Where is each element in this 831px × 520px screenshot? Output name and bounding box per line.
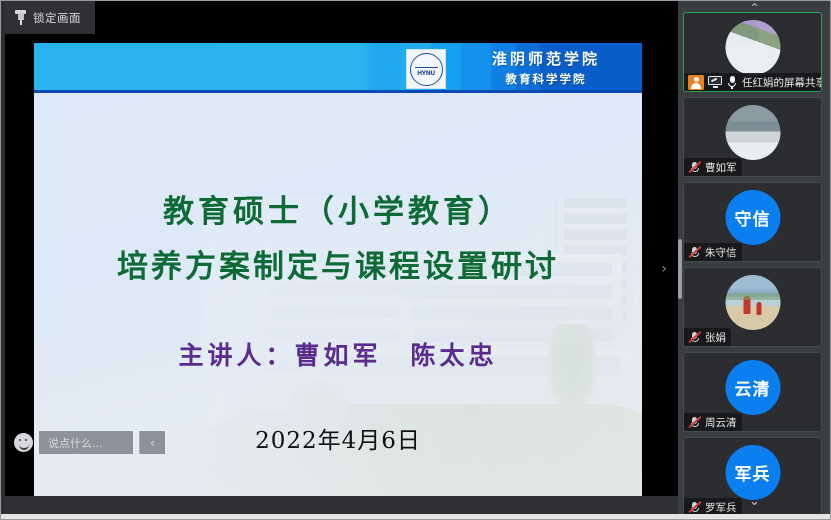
slide-title-line-1: 教育硕士（小学教育） — [34, 186, 642, 231]
participant-tile[interactable]: 守信朱守信 — [683, 182, 822, 262]
university-titles: 淮阴师范学院 教育科学学院 — [456, 48, 636, 87]
seal-text: HYNU — [417, 70, 435, 77]
participant-name: 张娟 — [705, 330, 726, 345]
participants-scrollbar[interactable] — [678, 239, 682, 299]
participant-name-bar: 张娟 — [684, 328, 731, 346]
avatar — [725, 105, 780, 160]
bottom-toolbar-strip — [5, 496, 678, 515]
participant-tile[interactable]: 曹如军 — [683, 97, 822, 177]
person-icon — [688, 75, 704, 90]
chat-input[interactable]: 说点什么... — [39, 431, 133, 454]
pin-icon — [14, 10, 27, 25]
mic-muted-icon — [688, 246, 701, 259]
university-name: 淮阴师范学院 — [492, 48, 600, 69]
chat-collapse-button[interactable]: ‹ — [139, 431, 165, 454]
participant-name-bar: 周云清 — [684, 413, 742, 431]
university-seal-icon: HYNU — [406, 49, 446, 89]
meeting-window: HYNU 淮阴师范学院 教育科学学院 教育硕士（小学教育） 培养方案制定与课程设… — [0, 0, 831, 520]
avatar: 云清 — [725, 360, 780, 415]
participants-scroll-up-button[interactable]: ⌃ — [678, 1, 831, 15]
participant-name-bar: 曹如军 — [684, 158, 742, 176]
avatar — [725, 20, 780, 75]
avatar — [725, 275, 780, 330]
window-bottom-edge — [1, 514, 831, 519]
mic-muted-icon — [688, 416, 701, 429]
mic-muted-icon — [688, 161, 701, 174]
mic-icon — [726, 75, 738, 89]
chat-bar: 说点什么... ‹ — [5, 429, 165, 456]
stage-expand-arrow[interactable]: › — [657, 256, 671, 282]
participant-tile[interactable]: 任红娟的屏幕共享 — [683, 12, 822, 92]
participant-panel: ⌃ 任红娟的屏幕共享曹如军守信朱守信张娟云清周云清军兵罗军兵 ⌄ — [678, 1, 831, 515]
participant-name-bar: 任红娟的屏幕共享 — [684, 73, 822, 91]
slide-presenter: 主讲人：曹如军 陈太忠 — [34, 336, 642, 372]
shared-screen-stage[interactable]: HYNU 淮阴师范学院 教育科学学院 教育硕士（小学教育） 培养方案制定与课程设… — [5, 1, 678, 515]
screen-share-icon — [708, 76, 722, 88]
lock-screen-button[interactable]: 锁定画面 — [5, 1, 95, 34]
mic-muted-icon — [688, 331, 701, 344]
lock-screen-label: 锁定画面 — [33, 10, 81, 26]
participants-scroll-down-button[interactable]: ⌄ — [678, 493, 831, 509]
participant-tiles: 任红娟的屏幕共享曹如军守信朱守信张娟云清周云清军兵罗军兵 — [683, 12, 829, 515]
slide-title-line-2: 培养方案制定与课程设置研讨 — [34, 241, 642, 286]
participant-name: 曹如军 — [705, 160, 737, 175]
participant-name: 任红娟的屏幕共享 — [742, 75, 822, 90]
avatar: 守信 — [725, 190, 780, 245]
participant-tile[interactable]: 云清周云清 — [683, 352, 822, 432]
participant-name: 朱守信 — [705, 245, 737, 260]
participant-name-bar: 朱守信 — [684, 243, 742, 261]
participant-tile[interactable]: 张娟 — [683, 267, 822, 347]
college-name: 教育科学学院 — [506, 71, 587, 87]
participant-name: 周云清 — [705, 415, 737, 430]
smiley-icon[interactable] — [14, 433, 33, 452]
avatar: 军兵 — [725, 445, 780, 500]
slide-header-band: HYNU 淮阴师范学院 教育科学学院 — [34, 43, 642, 93]
